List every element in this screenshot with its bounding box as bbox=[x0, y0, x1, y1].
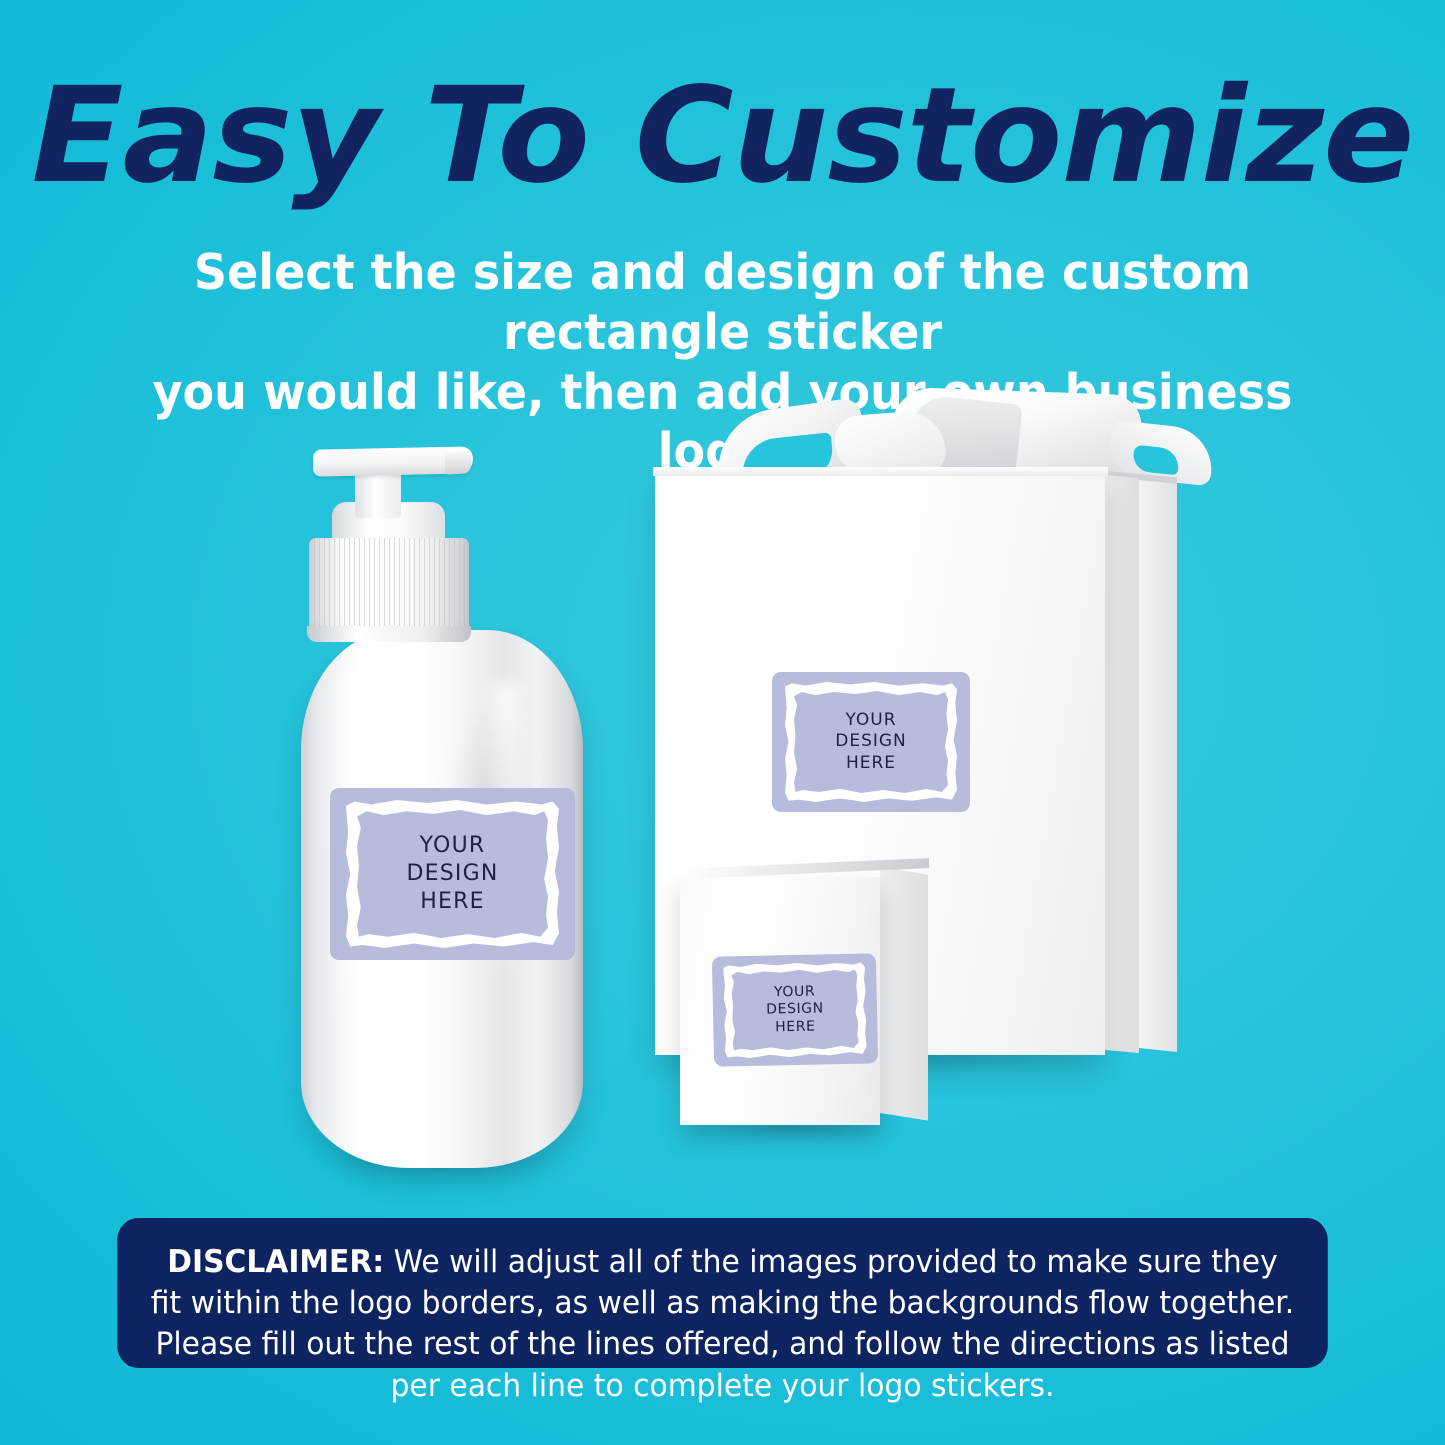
sticker-text: YOUR DESIGN HERE bbox=[330, 788, 575, 960]
sticker-carton[interactable]: YOUR DESIGN HERE bbox=[712, 953, 878, 1066]
gift-box-lid-seam bbox=[653, 467, 1108, 476]
gift-box-side-panel-outer bbox=[1139, 480, 1177, 1052]
sticker-text: YOUR DESIGN HERE bbox=[772, 672, 970, 812]
sticker-line-1: YOUR bbox=[774, 983, 816, 1001]
disclaimer-box: DISCLAIMER: We will adjust all of the im… bbox=[117, 1218, 1328, 1368]
disclaimer-label: DISCLAIMER: bbox=[167, 1244, 384, 1280]
sticker-line-2: DESIGN bbox=[766, 1001, 824, 1020]
bottle-pump-collar bbox=[309, 538, 469, 636]
bottle-collar-lip bbox=[307, 626, 471, 642]
carton-side-panel bbox=[880, 867, 928, 1121]
gift-box-side-panel-inner bbox=[1105, 475, 1139, 1053]
sticker-bottle[interactable]: YOUR DESIGN HERE bbox=[330, 788, 575, 960]
sticker-text: YOUR DESIGN HERE bbox=[712, 953, 878, 1066]
sticker-line-1: YOUR bbox=[420, 832, 486, 860]
sticker-line-2: DESIGN bbox=[835, 731, 907, 752]
sticker-line-3: HERE bbox=[420, 888, 484, 916]
sticker-line-2: DESIGN bbox=[407, 860, 499, 888]
promo-banner: Easy To Customize Select the size and de… bbox=[0, 0, 1445, 1445]
sticker-line-3: HERE bbox=[775, 1018, 816, 1036]
sticker-line-1: YOUR bbox=[845, 710, 896, 731]
pump-nozzle-tip bbox=[445, 451, 471, 474]
sticker-line-3: HERE bbox=[846, 753, 896, 774]
sticker-giftbox[interactable]: YOUR DESIGN HERE bbox=[772, 672, 970, 812]
